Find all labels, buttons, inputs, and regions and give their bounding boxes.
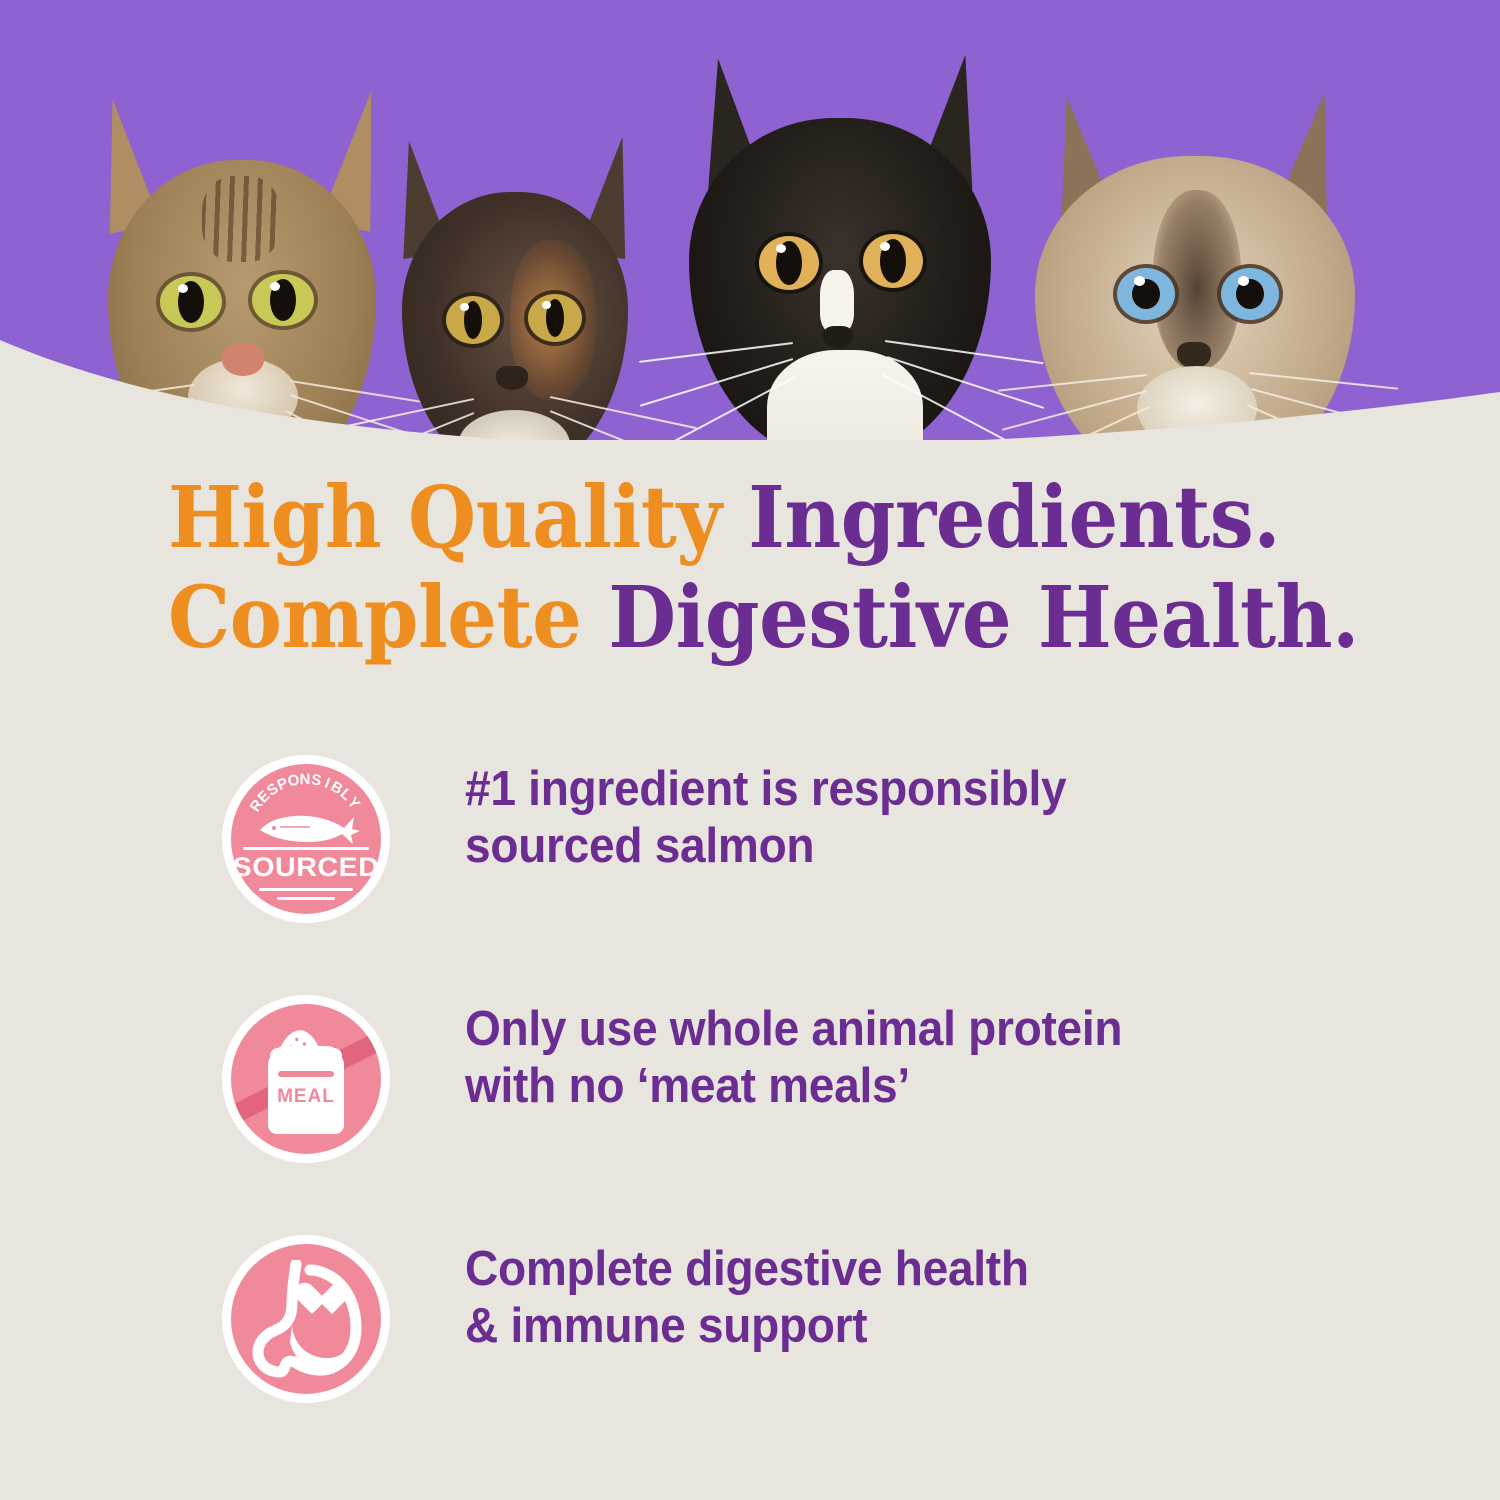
no-meat-meal-sack-badge: MEAL bbox=[222, 995, 390, 1163]
feature-line-2: sourced salmon bbox=[465, 818, 1292, 875]
badge-bottom-text: SOURCED bbox=[231, 852, 381, 883]
meal-sack-icon: MEAL bbox=[264, 1026, 348, 1134]
feature-item-responsibly-sourced: R E S P O N S I B L Y bbox=[0, 755, 1500, 995]
feature-line-2: with no ‘meat meals’ bbox=[465, 1058, 1292, 1115]
badge-divider-top bbox=[243, 847, 369, 850]
badge-pink-disc: MEAL bbox=[231, 1004, 381, 1154]
feature-line-1: Complete digestive health bbox=[465, 1241, 1292, 1298]
feature-line-2: & immune support bbox=[465, 1298, 1292, 1355]
feature-list: R E S P O N S I B L Y bbox=[0, 755, 1500, 1475]
sack-stripe bbox=[278, 1071, 334, 1077]
stomach-heart-digestive-badge bbox=[222, 1235, 390, 1403]
badge-divider-bottom-2 bbox=[277, 897, 335, 900]
feature-text-responsibly-sourced: #1 ingredient is responsibly sourced sal… bbox=[465, 761, 1292, 876]
sack-label-text: MEAL bbox=[264, 1086, 348, 1108]
badge-divider-bottom-1 bbox=[259, 888, 353, 891]
feature-line-1: Only use whole animal protein bbox=[465, 1001, 1292, 1058]
feature-text-no-meat-meals: Only use whole animal protein with no ‘m… bbox=[465, 1001, 1292, 1116]
headline-line-1: High Quality Ingredients. bbox=[168, 468, 1309, 568]
feature-text-digestive-health: Complete digestive health & immune suppo… bbox=[465, 1241, 1292, 1356]
badge-pink-disc: R E S P O N S I B L Y bbox=[231, 764, 381, 914]
badge-pink-disc bbox=[231, 1244, 381, 1394]
feature-item-digestive-health: Complete digestive health & immune suppo… bbox=[0, 1235, 1500, 1475]
headline-line-2: Complete Digestive Health. bbox=[168, 568, 1309, 668]
heart-icon bbox=[303, 1284, 341, 1318]
fish-icon bbox=[250, 811, 362, 845]
headline-line-2-orange: Complete bbox=[168, 568, 608, 668]
feature-item-no-meat-meals: MEAL Only use whole animal protein with … bbox=[0, 995, 1500, 1235]
stomach-icon bbox=[252, 1260, 364, 1378]
responsibly-sourced-fish-badge: R E S P O N S I B L Y bbox=[222, 755, 390, 923]
headline-line-2-purple: Digestive Health. bbox=[608, 568, 1359, 668]
page-title: High Quality Ingredients. Complete Diges… bbox=[168, 468, 1309, 669]
feature-line-1: #1 ingredient is responsibly bbox=[465, 761, 1292, 818]
headline-line-1-purple: Ingredients. bbox=[748, 468, 1280, 568]
headline-line-1-orange: High Quality bbox=[168, 468, 748, 568]
product-feature-poster: High Quality Ingredients. Complete Diges… bbox=[0, 0, 1500, 1500]
